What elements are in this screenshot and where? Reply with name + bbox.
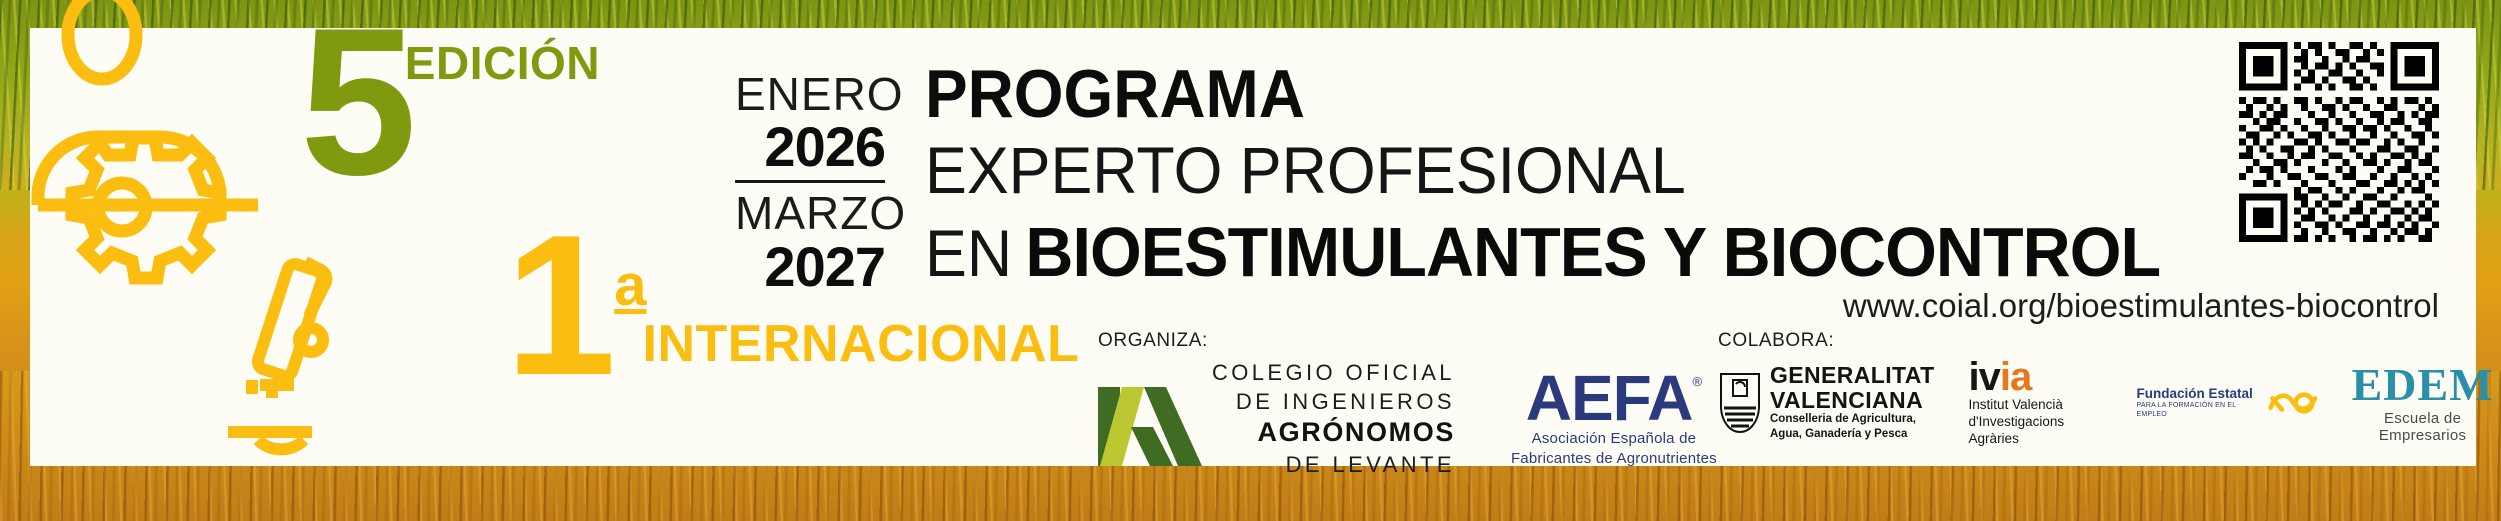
coial-logo[interactable]: COLEGIO OFICIAL DE INGENIEROS AGRÓNOMOS … — [1098, 358, 1455, 479]
colabora-logos: GENERALITAT VALENCIANA Conselleria de Ag… — [1718, 358, 2501, 447]
organiza-label: ORGANIZA: — [1098, 330, 1717, 352]
end-month: MARZO — [735, 189, 885, 237]
colabora-label: COLABORA: — [1718, 330, 2501, 352]
date-range: ENERO 2026 MARZO 2027 — [735, 70, 885, 295]
aefa-sub1: Asociación Española de — [1511, 429, 1717, 449]
generalitat-valenciana-logo[interactable]: GENERALITAT VALENCIANA Conselleria de Ag… — [1718, 363, 1935, 442]
edition-number: 5 — [300, 18, 411, 186]
fundacion-swirl-icon — [2267, 386, 2319, 420]
coial-line4: DE LEVANTE — [1212, 450, 1455, 479]
program-title: PROGRAMA EXPERTO PROFESIONAL EN BIOESTIM… — [925, 58, 2225, 293]
fundacion-text: Fundación Estatal PARA LA FORMACIÓN EN E… — [2137, 386, 2259, 419]
ivia-sub1: Institut Valencià — [1969, 396, 2107, 413]
international-number: 1 — [505, 228, 612, 384]
gva-line3: Conselleria de Agricultura, — [1770, 412, 1935, 427]
date-divider — [735, 180, 885, 183]
edem-wordmark: EDEM — [2344, 362, 2501, 408]
fundacion-line2: PARA LA FORMACIÓN EN EL EMPLEO — [2137, 402, 2259, 419]
fundacion-line1: Fundación Estatal — [2137, 386, 2259, 402]
colabora-section: COLABORA: GENERALITAT VALENCIANA — [1718, 330, 2501, 447]
ivia-ia: ia — [2000, 355, 2031, 399]
coial-line2: DE INGENIEROS — [1212, 387, 1455, 416]
coial-line3: AGRÓNOMOS — [1212, 416, 1455, 449]
start-month: ENERO — [735, 70, 885, 118]
title-line-bio: EN BIOESTIMULANTES Y BIOCONTROL — [925, 211, 2160, 294]
edem-sub: Escuela de Empresarios — [2344, 410, 2501, 444]
start-year: 2026 — [735, 118, 885, 175]
coial-text: COLEGIO OFICIAL DE INGENIEROS AGRÓNOMOS … — [1212, 358, 1455, 479]
ordinal-suffix: a — [614, 252, 646, 319]
title-line-experto: EXPERTO PROFESIONAL — [925, 130, 2160, 211]
gva-line2: VALENCIANA — [1770, 388, 1935, 412]
gva-line4: Agua, Ganadería y Pesca — [1770, 427, 1935, 442]
international-label: INTERNACIONAL — [643, 314, 1080, 374]
website-url[interactable]: www.coial.org/bioestimulantes-biocontrol — [1843, 287, 2439, 325]
qr-code-icon[interactable] — [2239, 42, 2439, 242]
coial-mark-icon — [1098, 371, 1202, 466]
coial-line1: COLEGIO OFICIAL — [1212, 358, 1455, 387]
ivia-iv: iv — [1969, 355, 2000, 399]
aefa-word: AEFA — [1526, 368, 1693, 429]
gva-text: GENERALITAT VALENCIANA Conselleria de Ag… — [1770, 363, 1935, 442]
edition-label: EDICIÓN — [405, 36, 600, 90]
title-main-bio: BIOESTIMULANTES Y BIOCONTROL — [1025, 211, 2160, 294]
fundacion-estatal-logo[interactable]: Fundación Estatal PARA LA FORMACIÓN EN E… — [2137, 386, 2319, 420]
edition-block: 5 EDICIÓN — [300, 18, 600, 186]
end-year: 2027 — [735, 238, 885, 295]
organiza-section: ORGANIZA: COLEGIO OFICIAL DE INGENIEROS … — [1098, 330, 1717, 479]
aefa-logo[interactable]: AEFA ® Asociación Española de Fabricante… — [1511, 368, 1717, 468]
registered-icon: ® — [1692, 374, 1702, 389]
ivia-logo[interactable]: ivia Institut Valencià d'Investigacions … — [1969, 358, 2107, 447]
aefa-sub2: Fabricantes de Agronutrientes — [1511, 449, 1717, 469]
event-banner: 5 EDICIÓN 1 a INTERNACIONAL ENERO 2026 M… — [0, 0, 2501, 521]
gva-line1: GENERALITAT — [1770, 363, 1935, 387]
aefa-wordmark: AEFA ® — [1511, 368, 1717, 429]
ivia-sub2: d'Investigacions Agràries — [1969, 413, 2107, 447]
edem-logo[interactable]: EDEM Escuela de Empresarios — [2344, 362, 2501, 444]
ivia-wordmark: ivia — [1969, 358, 2107, 396]
title-prefix-en: EN — [925, 215, 1012, 293]
gva-shield-icon — [1718, 372, 1762, 434]
title-line-programa: PROGRAMA — [925, 58, 2147, 130]
organiza-logos: COLEGIO OFICIAL DE INGENIEROS AGRÓNOMOS … — [1098, 358, 1717, 479]
